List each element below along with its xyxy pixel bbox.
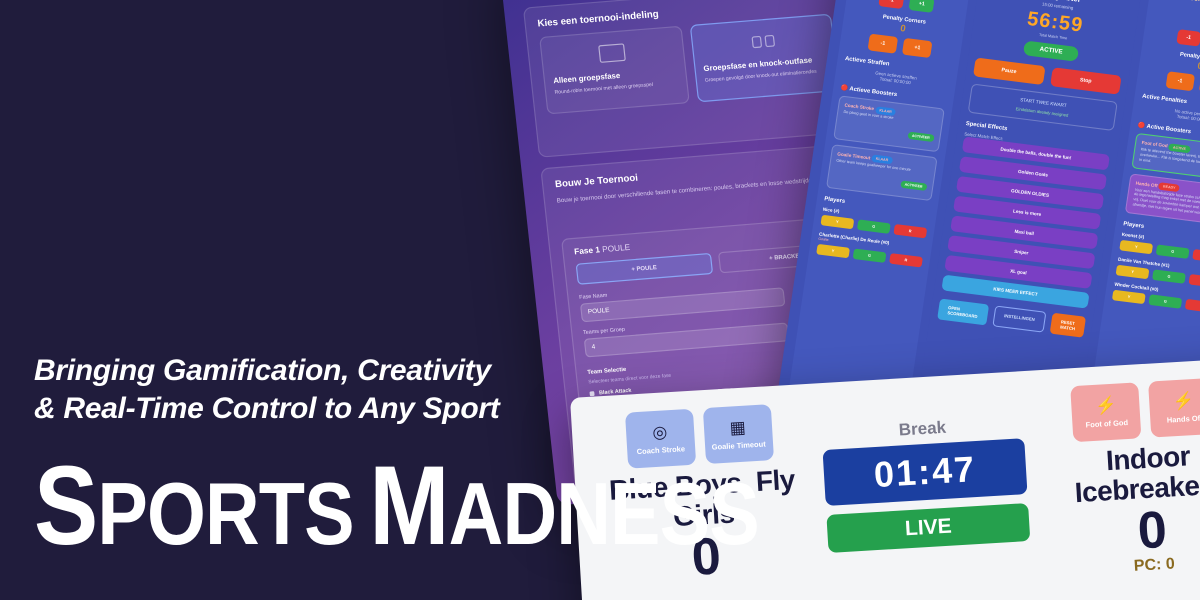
yellow-card-button[interactable]: Y — [1116, 265, 1150, 279]
pc-minus-button[interactable]: -1 — [868, 34, 898, 54]
red-card-button[interactable]: R — [893, 224, 927, 238]
chip-label: Foot of God — [1085, 418, 1128, 430]
effects-list: Double the balls, double the fun! Golden… — [941, 136, 1110, 308]
chip-label: Goalie Timeout — [711, 439, 765, 451]
target-icon: ◎ — [652, 422, 668, 443]
yellow-card-button[interactable]: Y — [816, 244, 850, 258]
chip-label: Hands Off — [1167, 414, 1200, 425]
wordmark-m: M — [369, 443, 448, 568]
checkbox-icon — [589, 391, 594, 396]
goal-net-icon: ▦ — [729, 418, 746, 439]
score-minus-button[interactable]: -1 — [879, 0, 905, 9]
display-center: Break 01:47 LIVE — [820, 389, 1030, 553]
green-card-button[interactable]: G — [1156, 244, 1190, 258]
green-card-button[interactable]: G — [1148, 294, 1182, 308]
booster-chip-goalie-timeout[interactable]: ▦ Goalie Timeout — [702, 404, 773, 464]
phase-1-label: Fase 1 — [574, 246, 601, 256]
green-card-button[interactable]: G — [853, 248, 887, 262]
tagline-line-1: Bringing Gamification, Creativity — [34, 352, 574, 390]
pc-minus-button[interactable]: -1 — [1165, 71, 1195, 91]
booster-chip-coach-stroke[interactable]: ◎ Coach Stroke — [625, 409, 696, 469]
display-status-badge: LIVE — [827, 503, 1030, 553]
red-card-button[interactable]: R — [1192, 249, 1200, 263]
display-left-boosters: ◎ Coach Stroke ▦ Goalie Timeout — [593, 402, 805, 470]
wordmark-s: S — [34, 443, 97, 568]
open-scoreboard-button[interactable]: OPEN SCOREBOARD — [937, 298, 989, 325]
booster-dot-icon: 🔴 — [840, 85, 848, 92]
yellow-card-button[interactable]: Y — [1119, 240, 1153, 254]
chip-label: Coach Stroke — [636, 444, 685, 456]
stop-button[interactable]: Stop — [1050, 67, 1122, 94]
booster-item[interactable]: Hands Off READY Voor een handsbal/zijde … — [1125, 173, 1200, 226]
reset-match-button[interactable]: RESET MATCH — [1050, 313, 1087, 338]
wordmark-ports: PORTS — [97, 464, 353, 563]
wordmark-adness: ADNESS — [449, 464, 759, 563]
branding-block: Bringing Gamification, Creativity & Real… — [34, 352, 574, 557]
pause-button[interactable]: Pauze — [973, 57, 1045, 84]
booster-chip-hands-off[interactable]: ⚡ Hands Off — [1148, 378, 1200, 438]
red-card-button[interactable]: R — [1189, 274, 1200, 288]
display-right-boosters: ⚡ Foot of God ⚡ Hands Off — [1039, 376, 1200, 444]
booster-item[interactable]: Goalie Timeout KLAAR Other team keeps go… — [826, 144, 937, 201]
banner-stage: Toernooi Indeling Maak geavanceerde meer… — [0, 0, 1200, 600]
bracket-icon — [749, 31, 777, 51]
green-card-button[interactable]: G — [1152, 269, 1186, 283]
booster-item[interactable]: Coach Stroke KLAAR De ploeg gaat in voor… — [833, 95, 944, 152]
booster-dot-icon: 🔴 — [1137, 123, 1145, 130]
match-status-badge: ACTIVE — [1023, 40, 1079, 61]
tagline: Bringing Gamification, Creativity & Real… — [34, 352, 574, 428]
yellow-card-button[interactable]: Y — [820, 215, 854, 229]
display-right-team-name: Indoor Icebreakers — [1043, 438, 1200, 510]
tagline-line-2: & Real-Time Control to Any Sport — [34, 390, 574, 428]
score-minus-button[interactable]: -1 — [1176, 29, 1200, 46]
phase-1-name: POULE — [602, 244, 631, 254]
tab-add-poule[interactable]: + POULE — [576, 253, 713, 285]
booster-activate-button[interactable]: ACTIVEER — [907, 132, 934, 143]
settings-button[interactable]: INSTELLINGEN — [992, 305, 1046, 332]
pc-plus-button[interactable]: +1 — [902, 38, 933, 58]
red-card-button[interactable]: R — [889, 253, 923, 267]
score-plus-button[interactable]: +1 — [908, 0, 935, 13]
lightning-icon: ⚡ — [1095, 396, 1117, 417]
format-option-groups-only[interactable]: Alleen groepsfase Round-robin toernooi m… — [539, 26, 689, 115]
table-icon — [599, 43, 627, 63]
booster-activate-button[interactable]: ACTIVEER — [900, 181, 927, 192]
logo-wordmark: SPORTSMADNESS — [34, 454, 498, 557]
lightning-icon: ⚡ — [1173, 391, 1195, 412]
green-card-button[interactable]: G — [857, 219, 891, 233]
booster-chip-foot-of-god[interactable]: ⚡ Foot of God — [1071, 382, 1142, 442]
red-card-button[interactable]: R — [1185, 299, 1200, 313]
format-option-groups-knockout[interactable]: Groepsfase en knock-outfase Groepen gevo… — [689, 14, 839, 103]
player-row: Winder Cocktail (#0) Y G R — [1112, 281, 1200, 313]
display-clock: 01:47 — [823, 438, 1028, 506]
display-right-team: ⚡ Foot of God ⚡ Hands Off Indoor Icebrea… — [1039, 376, 1200, 581]
display-right-score: 0 — [1046, 499, 1200, 563]
yellow-card-button[interactable]: Y — [1112, 290, 1146, 304]
player-row: Charlotte (Charlie) De Reule (#0) Goalie… — [816, 231, 924, 267]
